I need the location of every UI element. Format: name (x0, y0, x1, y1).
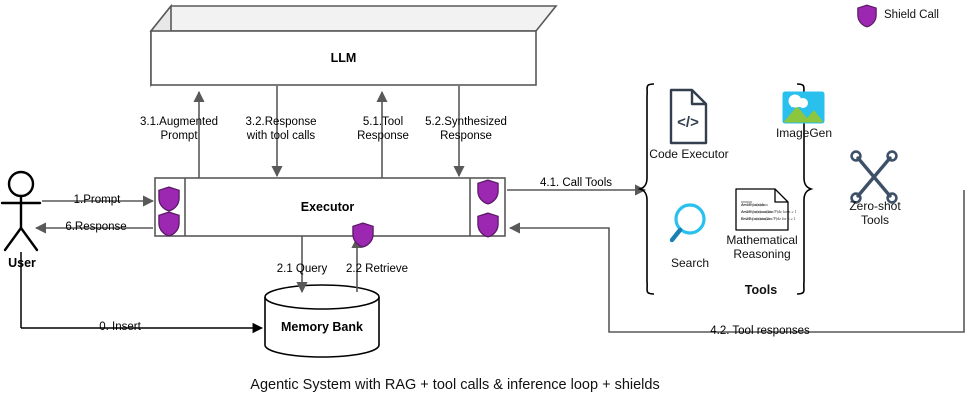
code-document-icon: </> (671, 90, 706, 143)
user-figure (2, 172, 40, 250)
edge-label-prompt: 1.Prompt (58, 194, 136, 208)
svg-text:</>: </> (677, 114, 699, 131)
svg-text:B=2/P ∫ x(z)sin(2nz/P)dz for: B=2/P ∫ x(z)sin(2nz/P)dz for n ≥ 1 (741, 216, 796, 221)
shield-icon-legend (858, 5, 876, 27)
llm-label: LLM (151, 51, 536, 65)
edge-label-query: 2.1 Query (264, 263, 340, 277)
magnifier-icon (672, 205, 704, 240)
tool-label-zero-shot-tools: Zero-shot Tools (836, 199, 914, 227)
tool-label-search: Search (655, 256, 725, 270)
edge-label-insert: 0. Insert (78, 321, 162, 335)
image-photo-icon (783, 92, 824, 123)
user-label: User (0, 256, 44, 270)
diagram-canvas: </> A=1/P ∫ x(z)d (0, 0, 970, 411)
shield-icon-exec-in-bottom (159, 212, 179, 236)
shield-icon-memory (353, 223, 373, 247)
svg-text:A=2/P ∫ x(z)cos(2nz/P)dz for: A=2/P ∫ x(z)cos(2nz/P)dz for n ≥ 1 (741, 209, 797, 214)
edge-label-retrieve: 2.2 Retrieve (335, 263, 419, 277)
diagram-caption: Agentic System with RAG + tool calls & i… (0, 377, 910, 393)
edge-label-response-tool-calls: 3.2.Response with tool calls (236, 116, 326, 143)
shield-icon-exec-in-top (159, 187, 179, 211)
edge-label-response: 6.Response (50, 221, 142, 235)
shield-icon-exec-out-bottom (478, 213, 498, 237)
tool-label-imagegen: ImageGen (761, 126, 847, 140)
memory-bank-label: Memory Bank (265, 320, 379, 334)
executor-label: Executor (185, 200, 470, 214)
legend-shield-label: Shield Call (884, 8, 970, 22)
edge-label-call-tools: 4.1. Call Tools (528, 177, 624, 191)
edge-label-augmented-prompt: 3.1.Augmented Prompt (140, 116, 218, 143)
svg-text:A=1/P ∫ x(z)dz: A=1/P ∫ x(z)dz (741, 202, 765, 207)
shield-icon-exec-out-top (478, 180, 498, 204)
edge-label-tool-response: 5.1.Tool Response (348, 116, 418, 143)
edge-label-tool-responses: 4.2. Tool responses (670, 325, 850, 339)
tool-label-code-executor: Code Executor (639, 147, 739, 161)
tools-brace-left (640, 84, 654, 294)
crossed-wrenches-icon (852, 152, 897, 203)
llm-node (150, 6, 556, 85)
tools-group-label: Tools (716, 283, 806, 297)
edge-insert (21, 252, 262, 328)
edge-label-synthesized-response: 5.2.Synthesized Response (420, 116, 512, 143)
tool-label-mathematical-reasoning: Mathematical Reasoning (722, 233, 802, 261)
formula-document-icon: A=1/P ∫ x(z)dz A=2/P ∫ x(z)cos(2nz/P)dz … (736, 189, 797, 230)
